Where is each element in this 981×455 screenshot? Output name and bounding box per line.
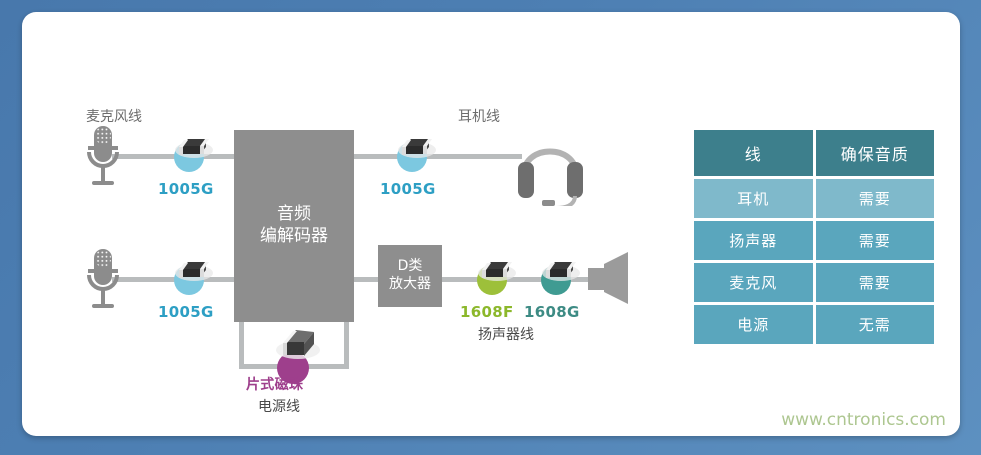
cell-line-headphone: 耳机 bbox=[694, 179, 813, 218]
table-row: 麦克风 需要 bbox=[694, 263, 934, 302]
block-audio-codec: 音频 编解码器 bbox=[234, 130, 354, 322]
smd-chip-icon bbox=[541, 253, 581, 283]
smd-chip-icon bbox=[477, 253, 517, 283]
codec-line-1: 音频 bbox=[277, 204, 311, 226]
smd-chip-icon bbox=[174, 253, 214, 283]
wire-mic-bottom bbox=[112, 277, 234, 282]
watermark: www.cntronics.com bbox=[781, 410, 946, 430]
label-power-line: 电源线 bbox=[258, 396, 300, 416]
part-label-1005g-headphone: 1005G bbox=[380, 180, 436, 198]
smd-chip-icon bbox=[274, 322, 322, 362]
part-label-1608g: 1608G bbox=[524, 303, 580, 321]
cell-line-microphone: 麦克风 bbox=[694, 263, 813, 302]
audio-quality-table: 线 确保音质 耳机 需要 扬声器 需要 麦克风 需要 电源 无需 bbox=[694, 130, 934, 347]
smd-chip-icon bbox=[174, 130, 214, 160]
table-header-quality: 确保音质 bbox=[816, 130, 935, 176]
cell-line-speaker: 扬声器 bbox=[694, 221, 813, 260]
part-label-1005g-mic-top: 1005G bbox=[158, 180, 214, 198]
part-label-1608f: 1608F bbox=[460, 303, 514, 321]
wire-codec-amp bbox=[354, 277, 379, 282]
wire-headphone bbox=[354, 154, 522, 159]
microphone-icon bbox=[80, 124, 126, 190]
table-header-line: 线 bbox=[694, 130, 813, 176]
part-label-ferrite-bead: 片式磁珠 bbox=[246, 374, 303, 394]
label-mic-line: 麦克风线 bbox=[86, 106, 142, 126]
cell-quality-headphone: 需要 bbox=[816, 179, 935, 218]
speaker-icon bbox=[588, 252, 632, 304]
table-row: 耳机 需要 bbox=[694, 179, 934, 218]
codec-line-2: 编解码器 bbox=[260, 226, 328, 248]
screenshot-root: 音频 编解码器 D类 放大器 1005G bbox=[0, 0, 981, 455]
wire-mic-top bbox=[112, 154, 234, 159]
part-label-1005g-mic-bottom: 1005G bbox=[158, 303, 214, 321]
table-row: 扬声器 需要 bbox=[694, 221, 934, 260]
table-row: 电源 无需 bbox=[694, 305, 934, 344]
label-headphone-line: 耳机线 bbox=[458, 106, 500, 126]
smd-chip-icon bbox=[397, 130, 437, 160]
block-class-d-amplifier: D类 放大器 bbox=[378, 245, 442, 307]
headset-icon bbox=[514, 128, 596, 206]
cell-quality-speaker: 需要 bbox=[816, 221, 935, 260]
amp-line-2: 放大器 bbox=[389, 276, 431, 294]
cell-quality-power: 无需 bbox=[816, 305, 935, 344]
table-header-row: 线 确保音质 bbox=[694, 130, 934, 176]
audio-signal-chain-diagram: 音频 编解码器 D类 放大器 1005G bbox=[22, 12, 682, 436]
cell-line-power: 电源 bbox=[694, 305, 813, 344]
amp-line-1: D类 bbox=[398, 258, 423, 276]
white-content-card: 音频 编解码器 D类 放大器 1005G bbox=[22, 12, 960, 436]
wire-power-left bbox=[239, 320, 244, 368]
cell-quality-microphone: 需要 bbox=[816, 263, 935, 302]
microphone-icon bbox=[80, 247, 126, 313]
label-speaker-line: 扬声器线 bbox=[478, 324, 534, 344]
wire-power-right bbox=[344, 320, 349, 368]
